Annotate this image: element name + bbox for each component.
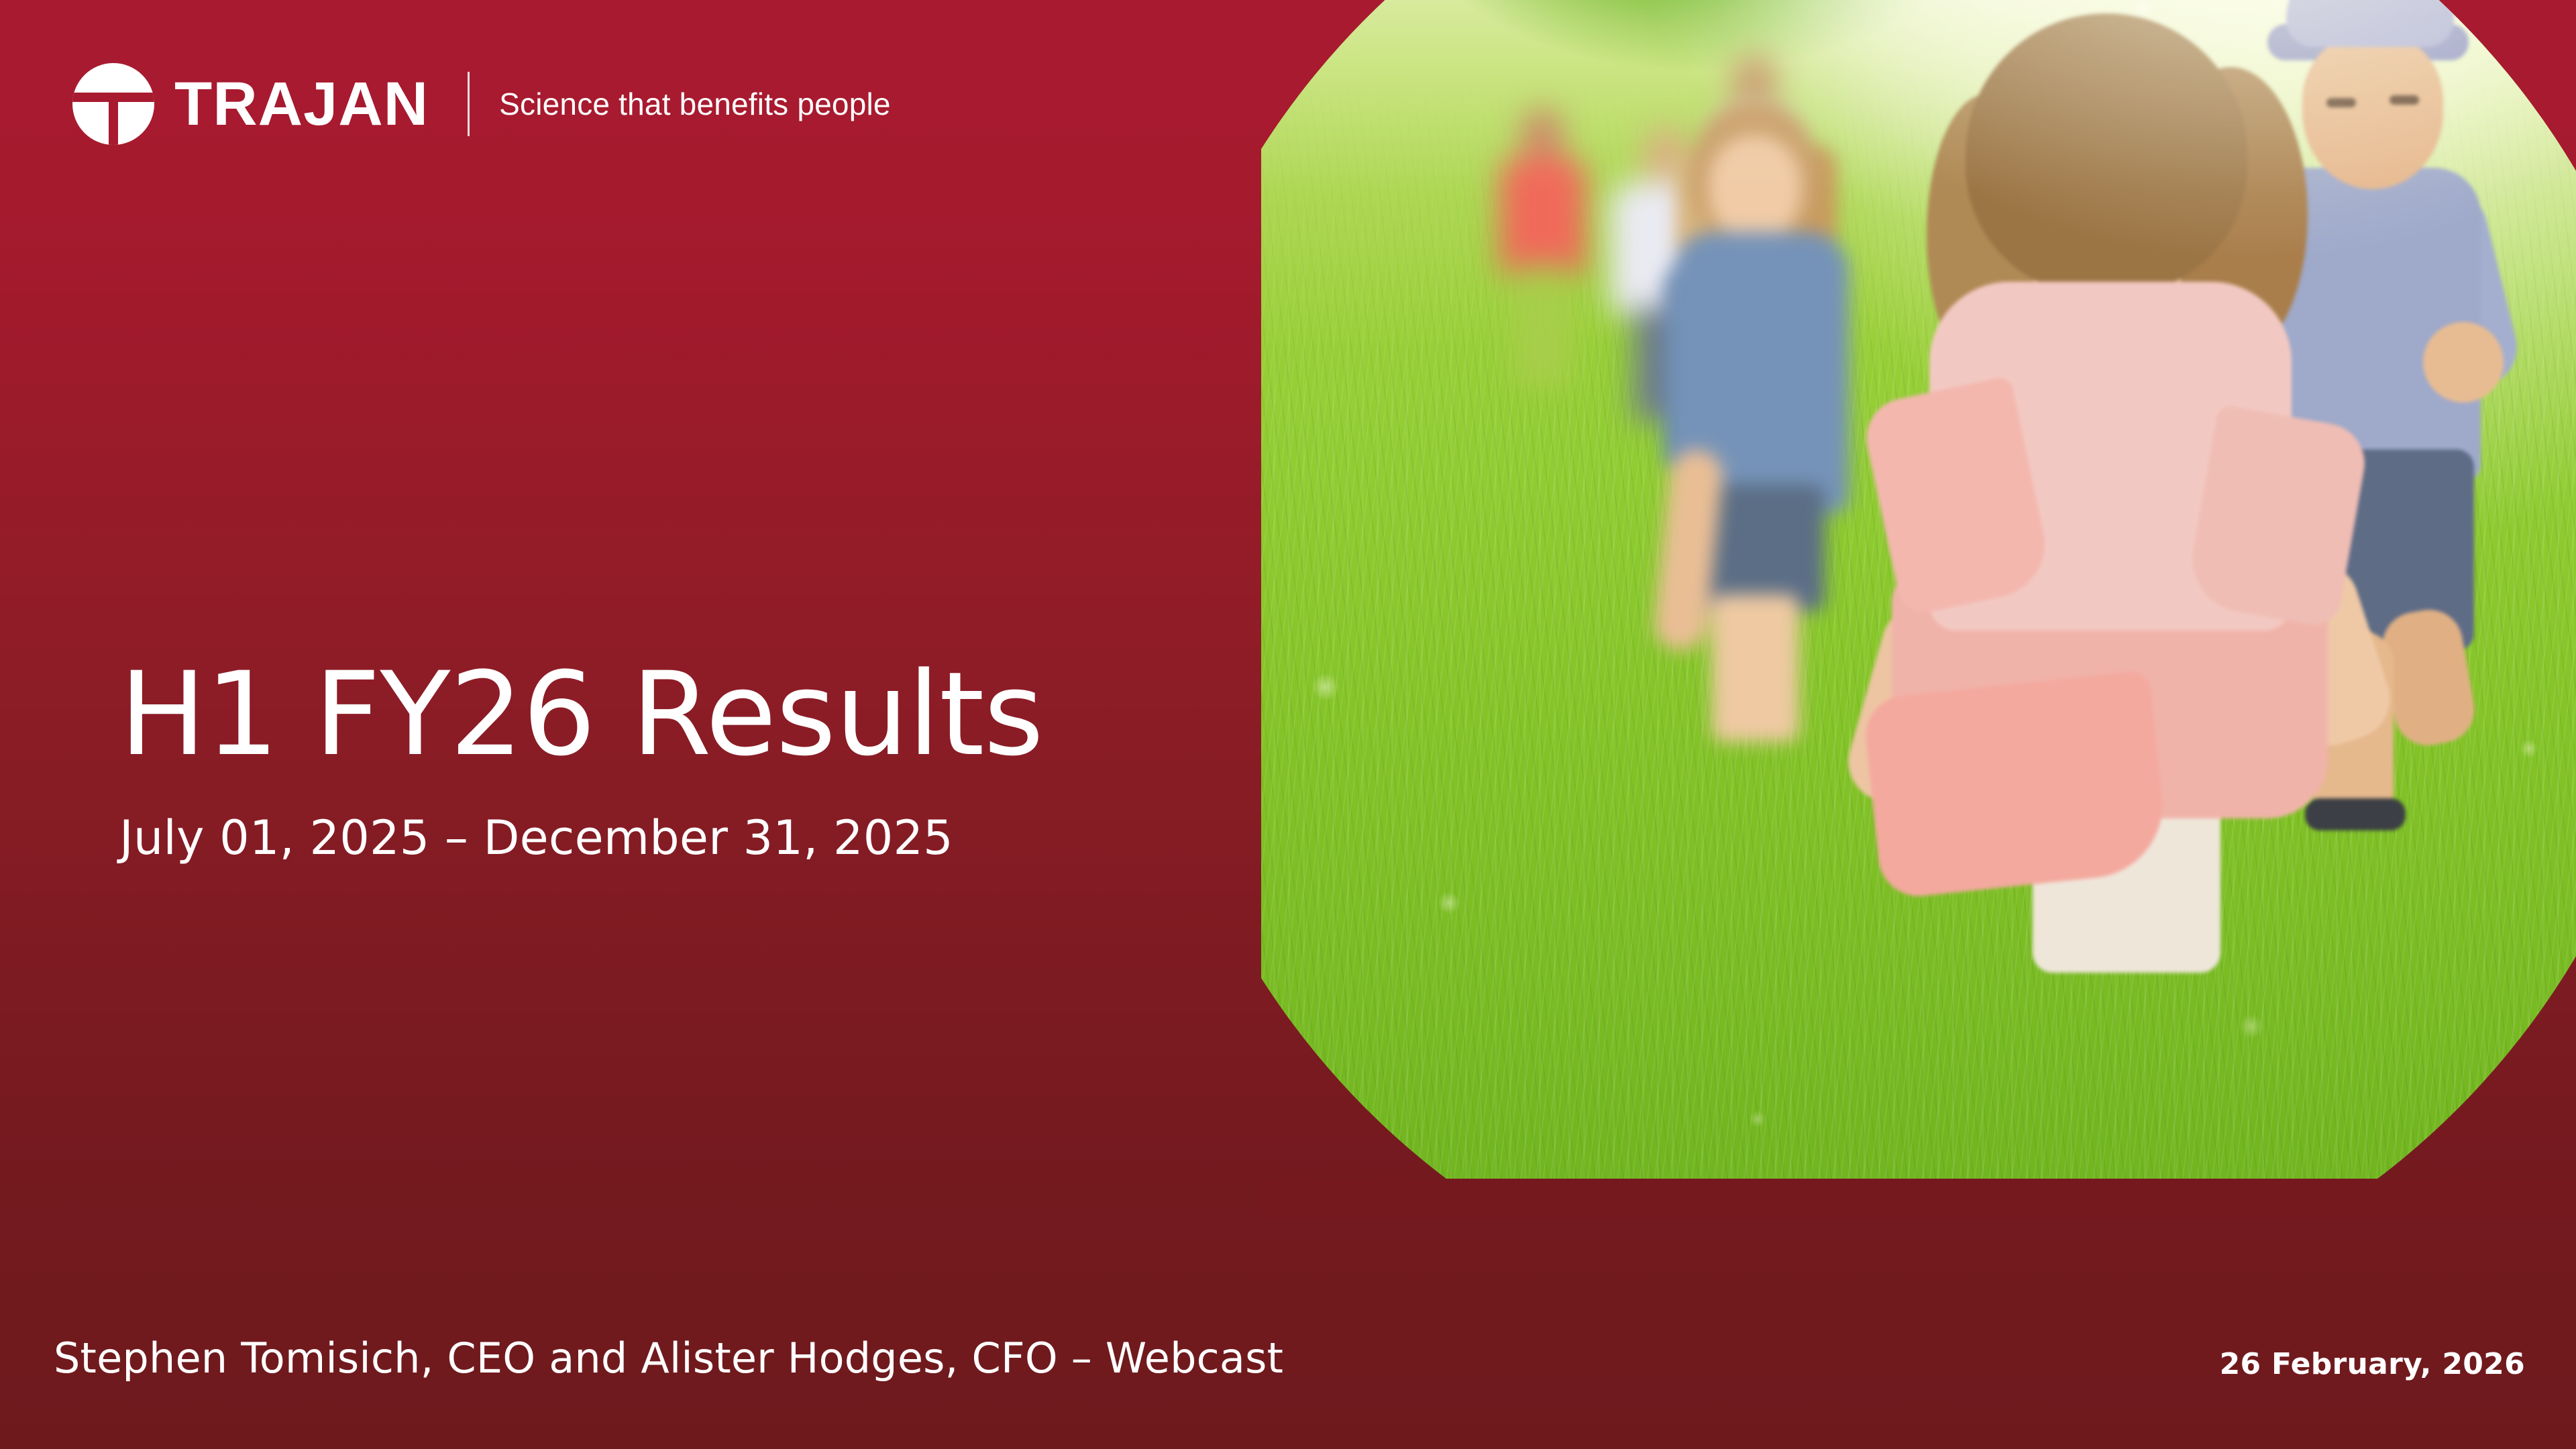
slide-subtitle-period: July 01, 2025 – December 31, 2025 [119, 810, 1043, 865]
logo-divider [468, 72, 470, 136]
slide-title: H1 FY26 Results [119, 654, 1043, 775]
presentation-title-slide: TRAJAN Science that benefits people H1 F… [0, 0, 2576, 1449]
hero-image-circular-mask [1261, 0, 2576, 1179]
hero-image-bottom-crop [1261, 1179, 2576, 1219]
figure-girl-pink-top [1865, 13, 2361, 973]
footer-presenters: Stephen Tomisich, CEO and Alister Hodges… [54, 1334, 1283, 1383]
hero-image-container [1261, 0, 2576, 1179]
logo-wordmark: TRAJAN [174, 73, 429, 135]
title-block: H1 FY26 Results July 01, 2025 – December… [119, 654, 1043, 865]
trajan-circle-t-icon [72, 63, 154, 145]
figure-girl-blue-shirt [1650, 101, 1872, 745]
brand-tagline: Science that benefits people [499, 86, 891, 122]
logo-t-stem [109, 93, 118, 145]
figure-background-coral-top [1489, 107, 1597, 389]
brand-logo[interactable]: TRAJAN Science that benefits people [72, 63, 891, 145]
footer-date: 26 February, 2026 [2220, 1347, 2525, 1381]
